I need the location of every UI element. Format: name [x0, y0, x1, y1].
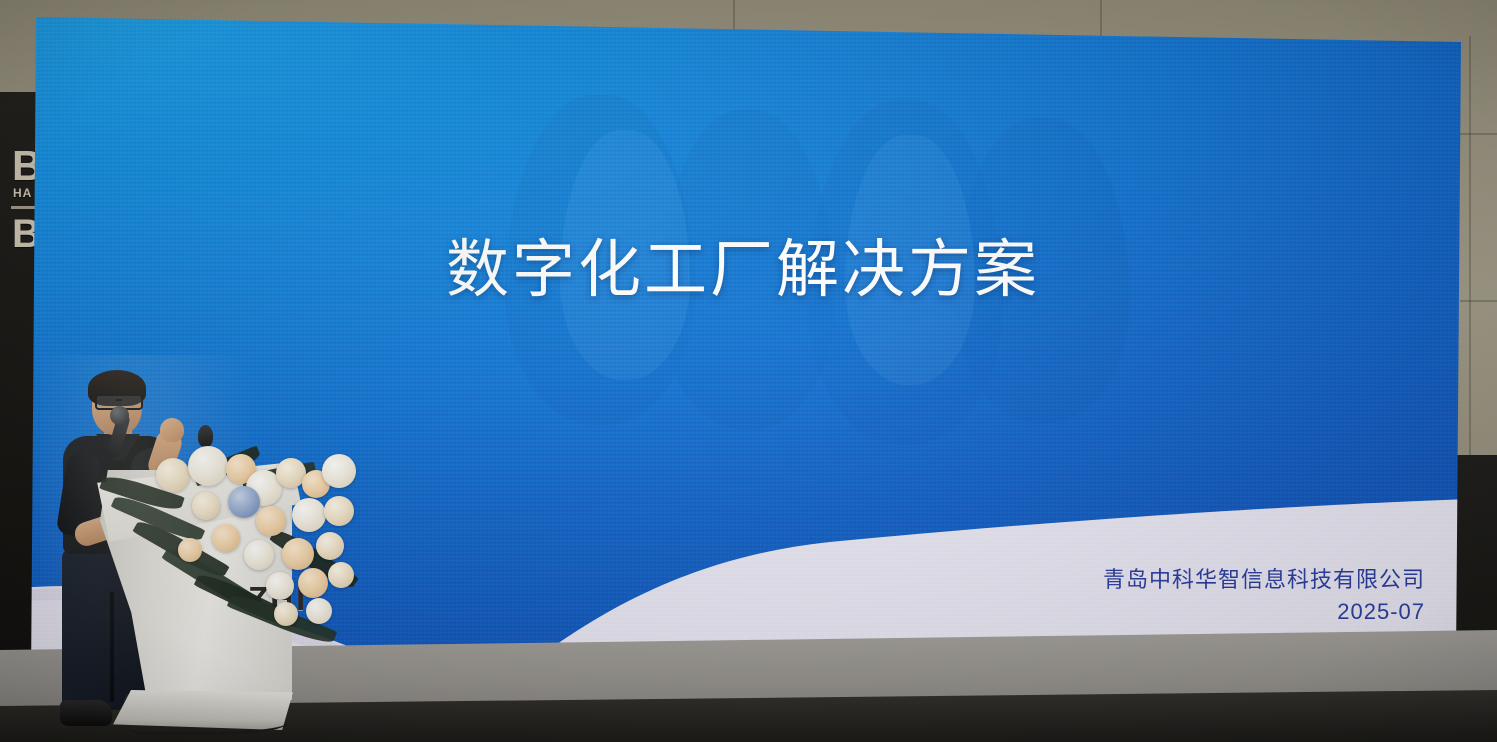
podium-cable — [130, 706, 290, 735]
presentation-photo-scene: B HA B 数字化工厂解决方案 — [0, 0, 1497, 742]
microphone-head — [110, 406, 129, 425]
floral-arrangement — [96, 440, 356, 655]
speaker-hand — [160, 418, 184, 442]
speaker-shoe-left — [60, 700, 112, 726]
